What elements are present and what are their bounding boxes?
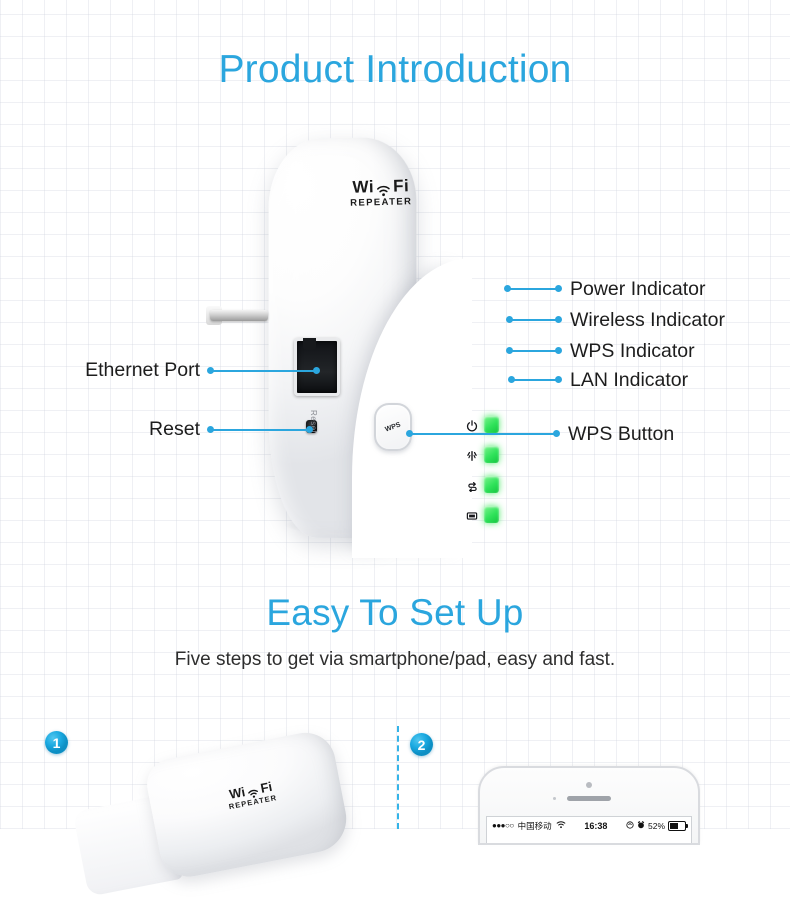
callout-label-ethernet-port: Ethernet Port bbox=[40, 359, 200, 382]
alarm-icon bbox=[637, 821, 645, 831]
callout-dot-wps-ind bbox=[555, 347, 562, 354]
power-icon bbox=[464, 418, 480, 434]
callout-endpoint-ethernet-port bbox=[313, 367, 320, 374]
callout-label-wps-indicator: WPS Indicator bbox=[570, 340, 695, 363]
status-bar-time: 16:38 bbox=[570, 821, 622, 831]
callout-dot-power bbox=[555, 285, 562, 292]
brand-fi-text: Fi bbox=[393, 177, 410, 194]
callout-label-power-indicator: Power Indicator bbox=[570, 278, 705, 301]
phone-proximity-sensor-icon bbox=[553, 797, 556, 800]
step-badge-2: 2 bbox=[410, 733, 433, 756]
callout-dot-wireless bbox=[555, 316, 562, 323]
callout-line-ethernet-port bbox=[212, 370, 317, 372]
led-row-lan bbox=[464, 504, 514, 534]
callout-line-wps-button bbox=[410, 433, 556, 435]
callout-line-power bbox=[508, 288, 558, 290]
wifi-status-icon bbox=[556, 820, 566, 831]
lan-led-lamp bbox=[484, 506, 499, 523]
wps-button[interactable]: WPS bbox=[374, 403, 412, 451]
callout-line-wireless bbox=[510, 319, 558, 321]
wifi-repeater-device-illustration: Wi Fi REPEATER Reset WPS bbox=[232, 138, 447, 558]
phone-earpiece-speaker bbox=[567, 796, 611, 801]
rotation-lock-icon bbox=[626, 821, 634, 831]
battery-percent-label: 52% bbox=[648, 821, 665, 831]
callout-dot-lan bbox=[555, 376, 562, 383]
callout-line-reset bbox=[212, 429, 310, 431]
wps-icon bbox=[464, 478, 480, 494]
brand-wi-text: Wi bbox=[352, 178, 374, 196]
page-title-product-introduction: Product Introduction bbox=[0, 48, 790, 92]
callout-label-wps-button: WPS Button bbox=[568, 423, 674, 446]
section-title-easy-to-set-up: Easy To Set Up bbox=[0, 592, 790, 634]
step-divider bbox=[397, 726, 399, 829]
wps-button-label: WPS bbox=[384, 421, 401, 433]
step1-brand-fi-text: Fi bbox=[259, 780, 273, 795]
led-row-power bbox=[464, 414, 514, 444]
wireless-led-lamp bbox=[484, 446, 499, 463]
callout-endpoint-reset bbox=[306, 426, 313, 433]
led-row-wps bbox=[464, 474, 514, 504]
power-led-lamp bbox=[484, 416, 499, 433]
brand-repeater-text: REPEATER bbox=[326, 196, 436, 210]
phone-screen[interactable]: ●●●○○ 中国移动 16:38 bbox=[486, 816, 692, 843]
wireless-icon bbox=[464, 448, 480, 464]
device-branding: Wi Fi REPEATER bbox=[326, 177, 437, 210]
infographic-stage: Product Introduction Wi Fi REPEATER bbox=[0, 0, 790, 829]
callout-label-wireless-indicator: Wireless Indicator bbox=[570, 309, 725, 332]
plug-prong bbox=[210, 310, 268, 321]
callout-dot-wps-button bbox=[553, 430, 560, 437]
led-indicator-column bbox=[464, 414, 514, 534]
callout-label-lan-indicator: LAN Indicator bbox=[570, 369, 688, 392]
wps-led-lamp bbox=[484, 476, 499, 493]
phone-front-camera-icon bbox=[586, 782, 592, 788]
step-badge-1: 1 bbox=[45, 731, 68, 754]
phone-status-bar: ●●●○○ 中国移动 16:38 bbox=[487, 817, 691, 834]
status-bar-right-cluster: 52% bbox=[626, 821, 686, 831]
battery-icon bbox=[668, 821, 686, 831]
led-row-wireless bbox=[464, 444, 514, 474]
callout-line-wps-ind bbox=[510, 350, 558, 352]
callout-label-reset: Reset bbox=[40, 418, 200, 441]
step1-wifi-arc-icon bbox=[246, 786, 260, 798]
step2-smartphone-illustration: ●●●○○ 中国移动 16:38 bbox=[478, 766, 700, 845]
section-subtitle-easy-to-set-up: Five steps to get via smartphone/pad, ea… bbox=[0, 649, 790, 671]
step1-repeater-illustration: Wi Fi REPEATER bbox=[143, 726, 358, 858]
wifi-arc-icon bbox=[376, 183, 391, 196]
callout-line-lan bbox=[512, 379, 558, 381]
lan-icon bbox=[464, 508, 480, 524]
carrier-name: 中国移动 bbox=[518, 820, 552, 832]
